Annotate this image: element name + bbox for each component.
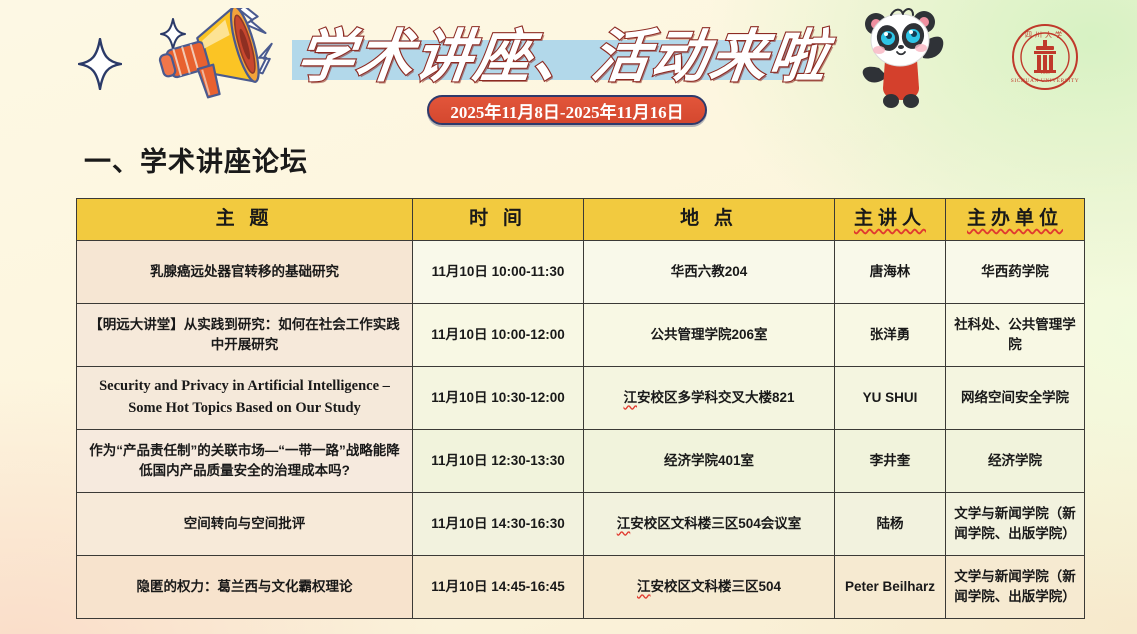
cell-time: 11月10日 14:45-16:45 [413,556,584,619]
sparkle-icon [78,38,122,90]
poster-header: 学术讲座、活动来啦 2025年11月8日-2025年11月16日 [0,0,1137,135]
cell-topic: Security and Privacy in Artificial Intel… [77,367,413,430]
sichuan-university-logo: SICHUAN UNIVERSITY 1896 四川大学 [1010,22,1080,92]
panda-mascot-icon [845,2,955,110]
table-row: Security and Privacy in Artificial Intel… [77,367,1085,430]
column-header-place-label: 地 点 [680,205,738,234]
cell-place-text: 华西六教204 [671,264,748,279]
schedule-table-body: 乳腺癌远处器官转移的基础研究 11月10日 10:00-11:30 华西六教20… [77,241,1085,619]
cell-place-text: 公共管理学院206室 [650,327,767,342]
column-header-topic: 主 题 [77,199,413,241]
cell-speaker: 李井奎 [835,430,946,493]
schedule-table-wrap: 主 题 时 间 地 点 主讲人 主办单位 乳腺癌远处器官转移的基础研究 11月1… [76,198,1084,619]
column-header-speaker-label: 主讲人 [854,205,926,234]
cell-topic: 乳腺癌远处器官转移的基础研究 [77,241,413,304]
cell-place-text: 安校区文科楼三区504 [650,579,781,594]
cell-time: 11月10日 12:30-13:30 [413,430,584,493]
table-row: 空间转向与空间批评 11月10日 14:30-16:30 江安校区文科楼三区50… [77,493,1085,556]
page-title: 学术讲座、活动来啦 [286,22,840,94]
cell-speaker: 唐海林 [835,241,946,304]
cell-organizer: 华西药学院 [946,241,1085,304]
cell-place: 江安校区多学科交叉大楼821 [584,367,835,430]
cell-speaker: Peter Beilharz [835,556,946,619]
column-header-organizer-label: 主办单位 [967,205,1063,234]
table-row: 作为“产品责任制”的关联市场—“一带一路”战略能降低国内产品质量安全的治理成本吗… [77,430,1085,493]
cell-place: 江安校区文科楼三区504 [584,556,835,619]
table-header-row: 主 题 时 间 地 点 主讲人 主办单位 [77,199,1085,241]
cell-organizer: 文学与新闻学院（新闻学院、出版学院） [946,493,1085,556]
cell-time: 11月10日 10:00-11:30 [413,241,584,304]
cell-topic: 空间转向与空间批评 [77,493,413,556]
column-header-place: 地 点 [584,199,835,241]
cell-place: 江安校区文科楼三区504会议室 [584,493,835,556]
table-row: 乳腺癌远处器官转移的基础研究 11月10日 10:00-11:30 华西六教20… [77,241,1085,304]
cell-topic: 隐匿的权力：葛兰西与文化霸权理论 [77,556,413,619]
cell-organizer: 经济学院 [946,430,1085,493]
cell-organizer: 文学与新闻学院（新闻学院、出版学院） [946,556,1085,619]
cell-organizer: 网络空间安全学院 [946,367,1085,430]
cell-place: 公共管理学院206室 [584,304,835,367]
cell-place-underlined: 江 [617,516,631,531]
cell-topic: 【明远大讲堂】从实践到研究：如何在社会工作实践中开展研究 [77,304,413,367]
table-row: 隐匿的权力：葛兰西与文化霸权理论 11月10日 14:45-16:45 江安校区… [77,556,1085,619]
cell-topic: 作为“产品责任制”的关联市场—“一带一路”战略能降低国内产品质量安全的治理成本吗… [77,430,413,493]
cell-place-text: 安校区多学科交叉大楼821 [637,390,795,405]
section-heading: 一、学术讲座论坛 [84,140,308,179]
cell-place-underlined: 江 [623,390,637,405]
column-header-speaker: 主讲人 [835,199,946,241]
cell-place: 华西六教204 [584,241,835,304]
svg-text:四川大学: 四川大学 [1025,30,1065,39]
date-range-badge: 2025年11月8日-2025年11月16日 [427,95,707,125]
column-header-organizer: 主办单位 [946,199,1085,241]
cell-time: 11月10日 10:00-12:00 [413,304,584,367]
cell-speaker: 张洋勇 [835,304,946,367]
poster-canvas: 学术讲座、活动来啦 2025年11月8日-2025年11月16日 [0,0,1137,634]
cell-organizer: 社科处、公共管理学院 [946,304,1085,367]
cell-place-text: 安校区文科楼三区504会议室 [630,516,801,531]
column-header-topic-label: 主 题 [216,205,274,234]
cell-time: 11月10日 10:30-12:00 [413,367,584,430]
cell-place-underlined: 江 [637,579,651,594]
cell-speaker: YU SHUI [835,367,946,430]
svg-text:SICHUAN UNIVERSITY: SICHUAN UNIVERSITY [1011,78,1079,84]
svg-text:1896: 1896 [1040,70,1050,75]
cell-speaker: 陆杨 [835,493,946,556]
column-header-time: 时 间 [413,199,584,241]
cell-time: 11月10日 14:30-16:30 [413,493,584,556]
cell-place-text: 经济学院401室 [664,453,754,468]
megaphone-icon [140,8,290,113]
column-header-time-label: 时 间 [469,205,527,234]
schedule-table: 主 题 时 间 地 点 主讲人 主办单位 乳腺癌远处器官转移的基础研究 11月1… [76,198,1085,619]
cell-place: 经济学院401室 [584,430,835,493]
table-row: 【明远大讲堂】从实践到研究：如何在社会工作实践中开展研究 11月10日 10:0… [77,304,1085,367]
